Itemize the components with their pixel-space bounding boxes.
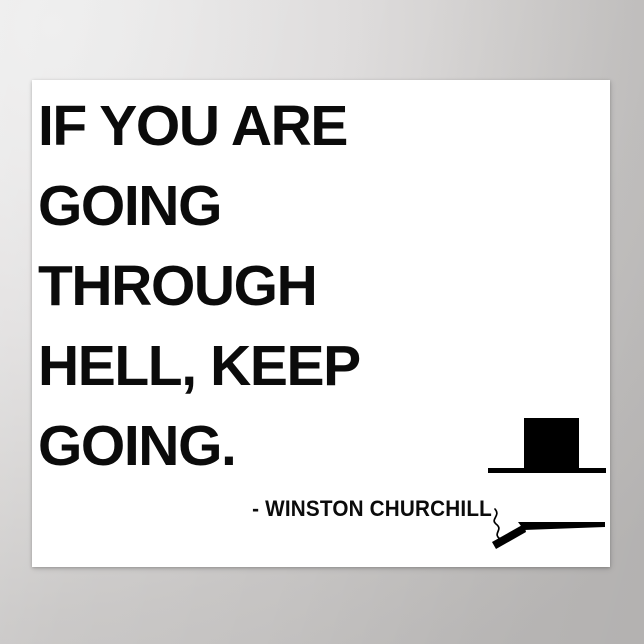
poster-canvas: IF YOU ARE GOING THROUGH HELL, KEEP GOIN… (0, 0, 644, 644)
poster: IF YOU ARE GOING THROUGH HELL, KEEP GOIN… (32, 80, 610, 567)
quote-line-2: GOING (38, 166, 458, 246)
top-hat-crown (524, 418, 579, 470)
quote-block: IF YOU ARE GOING THROUGH HELL, KEEP GOIN… (38, 86, 458, 486)
top-hat-icon (488, 418, 606, 474)
quote-line-1: IF YOU ARE (38, 86, 458, 166)
quote-line-4: HELL, KEEP (38, 326, 458, 406)
cigar-icon (488, 506, 606, 554)
quote-line-3: THROUGH (38, 246, 458, 326)
top-hat-brim (488, 468, 606, 473)
quote-line-5: GOING. (38, 406, 458, 486)
attribution-text: - WINSTON CHURCHILL (191, 496, 492, 522)
